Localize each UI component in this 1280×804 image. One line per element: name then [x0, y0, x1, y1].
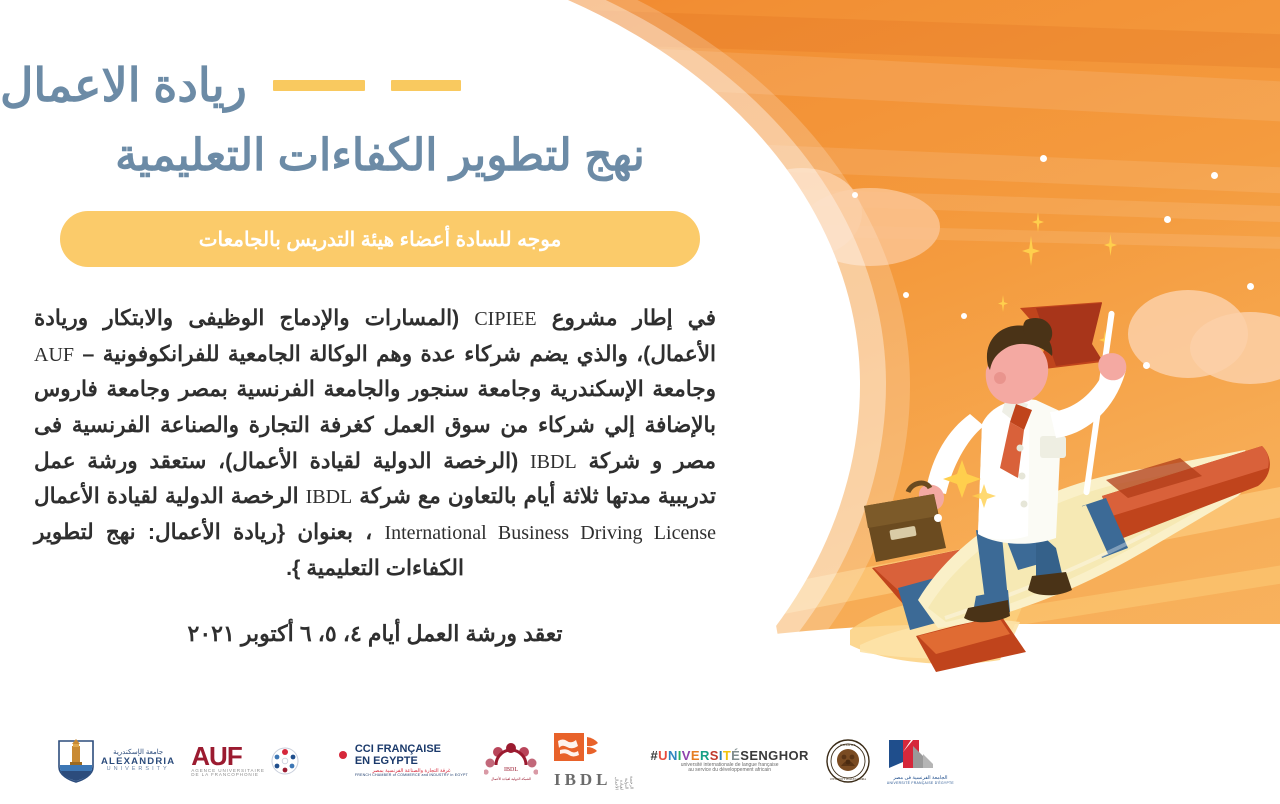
cci-line2: EN EGYPTE: [355, 756, 468, 768]
star-dot: [903, 292, 909, 298]
logo-alexandria-university: جامعة الإسكندرية ALEXANDRIA UNIVERSITY: [56, 738, 175, 784]
ibdl-network-icon: IBDL الشبكة الدولية لقيادة الأعمال: [484, 739, 538, 783]
audience-banner-label: موجه للسادة أعضاء هيئة التدريس بالجامعات: [199, 227, 562, 252]
poster-content: ريادة الاعمال نهج لتطوير الكفاءات التعلي…: [0, 0, 760, 647]
logo-cci-francaise: CCI FRANÇAISE EN EGYPTE غرفة التجارة وال…: [316, 744, 468, 777]
project-code: CIPIEE: [474, 308, 536, 330]
title-dash-left: [391, 80, 461, 91]
page-subtitle: نهج لتطوير الكفاءات التعليمية: [0, 130, 760, 181]
logo-ufe: الجامعة الفرنسية فى مصر UNIVERSITÉ FRANÇ…: [887, 738, 954, 785]
star-dot: [1164, 216, 1171, 223]
rocket-svg: [850, 300, 1280, 720]
rocket-illustration: [850, 300, 1280, 720]
star-dot: [1211, 172, 1218, 179]
ibdl-network-caption: الشبكة الدولية لقيادة الأعمال: [491, 777, 531, 781]
ibdl-english-name: International Business Driving License: [384, 522, 716, 544]
auf-globe-icon: [270, 746, 300, 776]
star-dot: [1040, 155, 1047, 162]
logo-universite-senghor: #UNIVERSITÉSENGHOR université internatio…: [651, 749, 809, 773]
workshop-date: تعقد ورشة العمل أيام ٤، ٥، ٦ أكتوبر ٢٠٢١: [34, 621, 716, 647]
ibdl-world-icon: [554, 733, 600, 763]
ibdl-acronym: IBDL: [530, 451, 577, 473]
ufe-mark-icon: [887, 738, 941, 770]
title-row: ريادة الاعمال: [0, 62, 760, 108]
partner-logos: جامعة الإسكندرية ALEXANDRIA UNIVERSITY A…: [0, 718, 1280, 804]
svg-text:P H A R O S: P H A R O S: [840, 743, 855, 747]
star-dot: [1247, 283, 1254, 290]
ibdl-side-text: الرخصة الدولية لقيادة الأعمال: [615, 768, 635, 790]
logo-ibdl-network: IBDL الشبكة الدولية لقيادة الأعمال: [484, 739, 538, 783]
title-dash-right: [273, 80, 365, 91]
auf-acronym: AUF: [34, 344, 74, 366]
ibdl-acronym-2: IBDL: [306, 486, 353, 508]
body-part-1: في إطار مشروع: [552, 306, 716, 330]
logo-ibdl: IBDL الرخصة الدولية لقيادة الأعمال: [554, 733, 635, 790]
senghor-tagline2: au service du développement africain: [651, 768, 809, 773]
alexandria-name-en2: UNIVERSITY: [101, 767, 175, 773]
ibdl-acronym-logo: IBDL: [554, 770, 612, 790]
cci-monogram-icon: [316, 745, 350, 777]
auf-acronym-logo: AUF: [191, 744, 265, 769]
poster-canvas: ريادة الاعمال نهج لتطوير الكفاءات التعلي…: [0, 0, 1280, 804]
senghor-word2: SENGHOR: [740, 748, 809, 763]
ufe-line-ar: الجامعة الفرنسية فى مصر: [887, 775, 954, 781]
body-part-5: الرخصة الدولية لقيادة الأعمال: [34, 484, 299, 508]
body-paragraph: في إطار مشروع CIPIEE (المسارات والإدماج …: [34, 301, 716, 587]
pharos-caption: UNIVERSITY IN ALEXANDRIA: [830, 778, 866, 781]
pharos-seal-icon: P H A R O S UNIVERSITY IN ALEXANDRIA: [825, 738, 871, 784]
audience-banner: موجه للسادة أعضاء هيئة التدريس بالجامعات: [60, 211, 700, 267]
auf-line2: DE LA FRANCOPHONIE: [191, 773, 265, 778]
logo-auf: AUF AGENCE UNIVERSITAIRE DE LA FRANCOPHO…: [191, 744, 300, 778]
cci-line4: FRENCH CHAMBER of COMMERCE and INDUSTRY …: [355, 774, 468, 778]
logo-pharos-university: P H A R O S UNIVERSITY IN ALEXANDRIA: [825, 738, 871, 784]
alexandria-crest-icon: [56, 738, 96, 784]
svg-text:IBDL: IBDL: [504, 767, 518, 773]
ufe-line-en: UNIVERSITÉ FRANÇAISE D'ÉGYPTE: [887, 781, 954, 785]
page-title: ريادة الاعمال: [0, 62, 247, 108]
